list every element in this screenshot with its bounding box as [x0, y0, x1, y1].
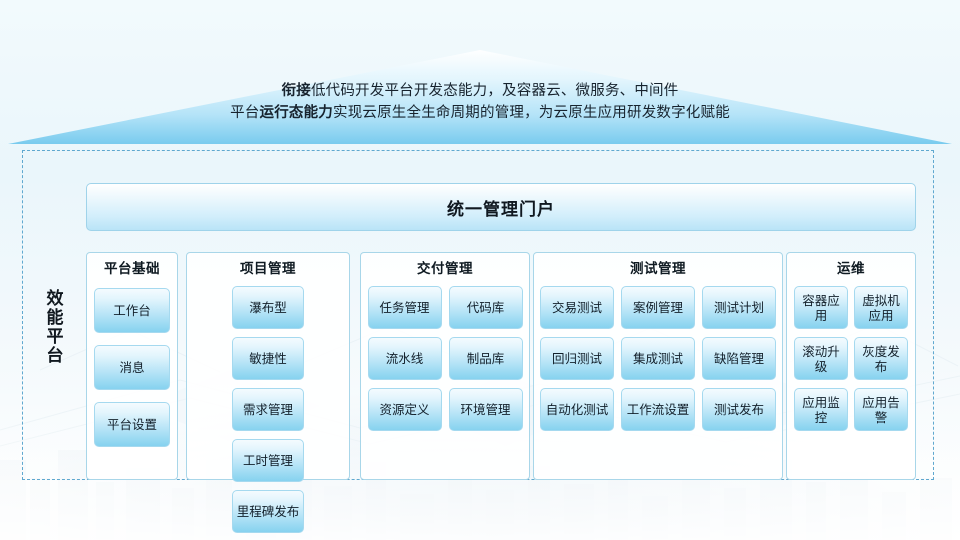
roof-line1-emphasis: 衔接: [282, 83, 311, 99]
column-card-test-management: 测试管理 交易测试 案例管理 测试计划 回归测试 集成测试 缺陷管理 自动化测试…: [533, 252, 783, 480]
diagram-canvas: 衔接低代码开发平台开发态能力，及容器云、微服务、中间件 平台运行态能力实现云原生…: [0, 0, 960, 540]
module-chip[interactable]: 工时管理: [232, 439, 304, 482]
column-item-grid: 工作台 消息 平台设置: [87, 282, 177, 447]
module-chip[interactable]: 敏捷性: [232, 337, 304, 380]
module-chip[interactable]: 测试计划: [702, 286, 776, 329]
roof-banner: 衔接低代码开发平台开发态能力，及容器云、微服务、中间件 平台运行态能力实现云原生…: [0, 22, 960, 147]
module-chip[interactable]: 消息: [94, 345, 170, 390]
column-item-grid: 任务管理 代码库 流水线 制品库 资源定义 环境管理: [361, 282, 529, 431]
column-item-grid: 交易测试 案例管理 测试计划 回归测试 集成测试 缺陷管理 自动化测试 工作流设…: [534, 282, 782, 431]
module-chip[interactable]: 灰度发布: [854, 337, 908, 380]
module-chip[interactable]: 自动化测试: [540, 388, 614, 431]
module-chip[interactable]: 制品库: [449, 337, 523, 380]
capability-columns: 平台基础 工作台 消息 平台设置 项目管理 瀑布型 敏捷性 需求管理 工时管理 …: [86, 252, 916, 480]
column-card-operations: 运维 容器应用 虚拟机应用 滚动升级 灰度发布 应用监控 应用告警: [786, 252, 916, 480]
module-chip[interactable]: 应用告警: [854, 388, 908, 431]
unified-portal-title: 统一管理门户: [447, 195, 555, 220]
roof-line2-rest: 实现云原生全生命周期的管理，为云原生应用研发数字化赋能: [333, 105, 730, 121]
column-card-platform-basics: 平台基础 工作台 消息 平台设置: [86, 252, 178, 480]
column-card-delivery-management: 交付管理 任务管理 代码库 流水线 制品库 资源定义 环境管理: [360, 252, 530, 480]
module-chip[interactable]: 流水线: [368, 337, 442, 380]
roof-line1-rest: 低代码开发平台开发态能力，及容器云、微服务、中间件: [311, 83, 679, 99]
module-chip[interactable]: 环境管理: [449, 388, 523, 431]
module-chip[interactable]: 工作台: [94, 288, 170, 333]
module-chip[interactable]: 需求管理: [232, 388, 304, 431]
module-chip[interactable]: 容器应用: [794, 286, 848, 329]
unified-portal-bar[interactable]: 统一管理门户: [86, 183, 916, 231]
column-title: 测试管理: [534, 260, 782, 282]
column-title: 平台基础: [87, 260, 177, 282]
platform-vertical-label: 效 能 平 台: [36, 290, 74, 366]
column-title: 运维: [787, 260, 915, 282]
module-chip[interactable]: 代码库: [449, 286, 523, 329]
vertical-label-char-3: 平: [36, 328, 74, 347]
roof-line2-emphasis: 运行态能力: [260, 105, 334, 121]
roof-line-2: 平台运行态能力实现云原生全生命周期的管理，为云原生应用研发数字化赋能: [0, 102, 960, 124]
vertical-label-char-4: 台: [36, 347, 74, 366]
module-chip[interactable]: 应用监控: [794, 388, 848, 431]
vertical-label-char-1: 效: [36, 290, 74, 309]
module-chip[interactable]: 回归测试: [540, 337, 614, 380]
module-chip[interactable]: 集成测试: [621, 337, 695, 380]
column-item-grid: 瀑布型 敏捷性 需求管理 工时管理 里程碑发布 项目代码 效能报表 分析视图: [187, 282, 349, 540]
column-card-project-management: 项目管理 瀑布型 敏捷性 需求管理 工时管理 里程碑发布 项目代码 效能报表 分…: [186, 252, 350, 480]
roof-line2-prefix: 平台: [230, 105, 259, 121]
module-chip[interactable]: 瀑布型: [232, 286, 304, 329]
module-chip[interactable]: 里程碑发布: [232, 490, 304, 533]
column-title: 项目管理: [187, 260, 349, 282]
module-chip[interactable]: 测试发布: [702, 388, 776, 431]
module-chip[interactable]: 任务管理: [368, 286, 442, 329]
column-title: 交付管理: [361, 260, 529, 282]
column-item-grid: 容器应用 虚拟机应用 滚动升级 灰度发布 应用监控 应用告警: [787, 282, 915, 431]
module-chip[interactable]: 平台设置: [94, 402, 170, 447]
module-chip[interactable]: 工作流设置: [621, 388, 695, 431]
module-chip[interactable]: 缺陷管理: [702, 337, 776, 380]
module-chip[interactable]: 滚动升级: [794, 337, 848, 380]
module-chip[interactable]: 虚拟机应用: [854, 286, 908, 329]
vertical-label-char-2: 能: [36, 309, 74, 328]
module-chip[interactable]: 案例管理: [621, 286, 695, 329]
roof-line-1: 衔接低代码开发平台开发态能力，及容器云、微服务、中间件: [0, 80, 960, 102]
module-chip[interactable]: 交易测试: [540, 286, 614, 329]
roof-banner-text: 衔接低代码开发平台开发态能力，及容器云、微服务、中间件 平台运行态能力实现云原生…: [0, 80, 960, 124]
module-chip[interactable]: 资源定义: [368, 388, 442, 431]
